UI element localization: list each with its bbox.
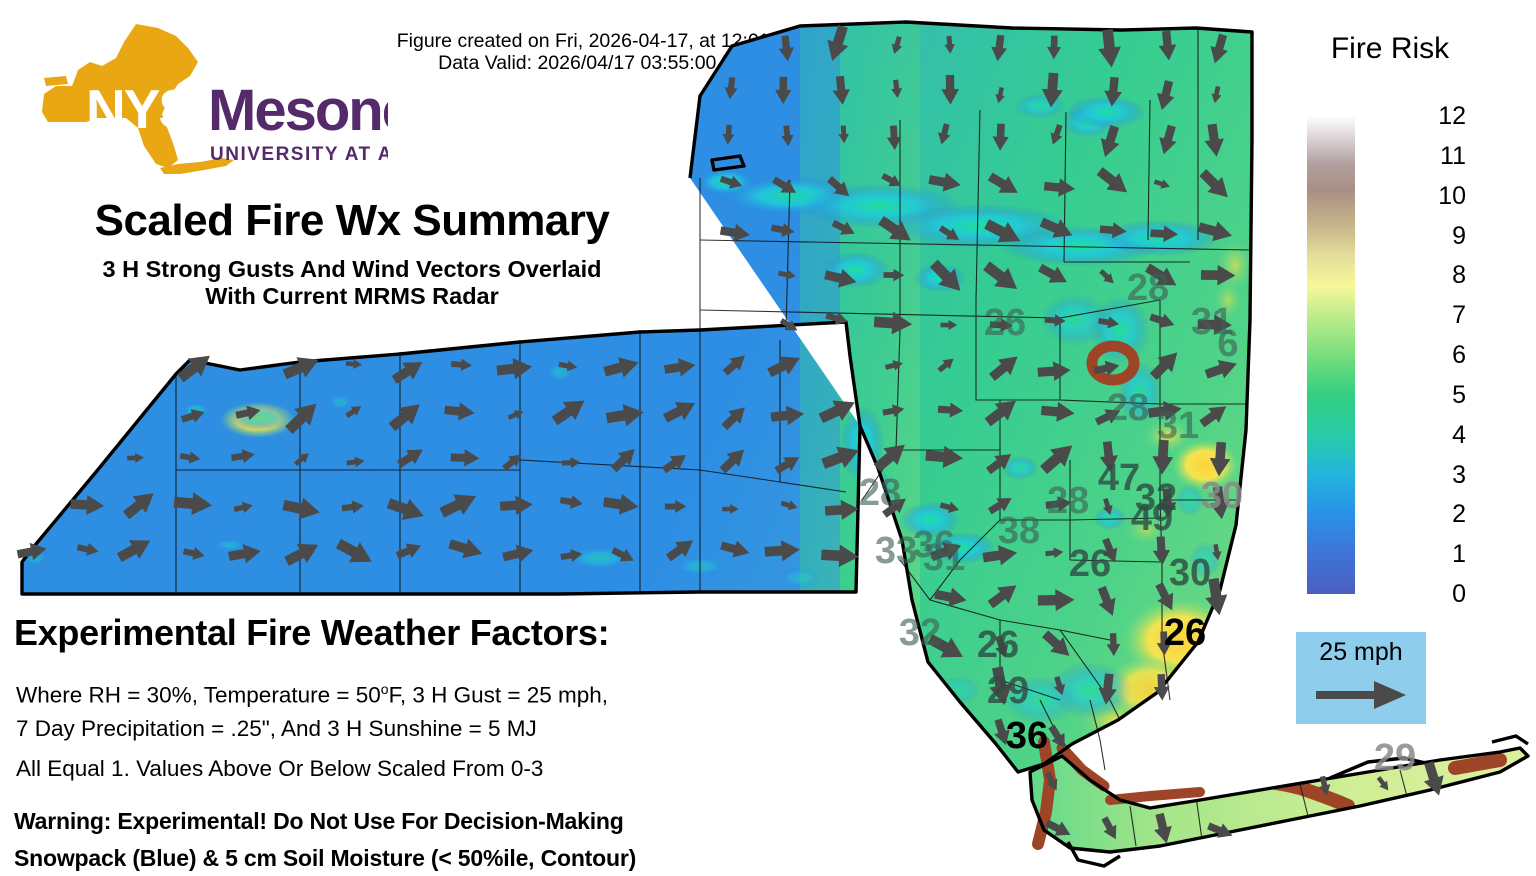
colorbar-tick-9: 9 [1420, 224, 1466, 249]
wind-legend-arrow-icon [1314, 678, 1408, 712]
gust-label: 36 [1006, 715, 1048, 757]
factor-line-1: Where RH = 30%, Temperature = 50oF, 3 H … [16, 676, 608, 709]
gust-label: 28 [859, 472, 901, 514]
gust-label: 29 [987, 670, 1029, 712]
gust-label: 26 [977, 624, 1019, 666]
colorbar-tick-8: 8 [1420, 263, 1466, 288]
colorbar-tick-5: 5 [1420, 383, 1466, 408]
degree-sup: o [381, 681, 389, 697]
gust-label: 26 [984, 302, 1026, 344]
gust-label: 31 [923, 537, 965, 579]
warning-line-1: Warning: Experimental! Do Not Use For De… [14, 808, 624, 835]
fire-risk-colorbar [1307, 116, 1355, 594]
colorbar-title: Fire Risk [1300, 32, 1480, 66]
gust-label: 38 [998, 510, 1040, 552]
colorbar-tick-7: 7 [1420, 303, 1466, 328]
warning-line-2: Snowpack (Blue) & 5 cm Soil Moisture (< … [14, 845, 636, 872]
colorbar-tick-0: 0 [1420, 582, 1466, 607]
gust-label: 28 [1107, 387, 1149, 429]
gust-label: 49 [1131, 497, 1173, 539]
factor-1a: Where RH = 30%, Temperature = 50 [16, 683, 381, 708]
fire-risk-map: 2826316283147282832303849363331263032262… [0, 0, 1536, 876]
gust-label: 26 [1069, 543, 1111, 585]
colorbar-tick-labels: 1211109876543210 [1420, 104, 1466, 604]
colorbar-tick-1: 1 [1420, 542, 1466, 567]
factor-line-2: 7 Day Precipitation = .25", And 3 H Suns… [16, 716, 537, 742]
wind-scale-legend: 25 mph [1296, 632, 1426, 724]
factors-heading: Experimental Fire Weather Factors: [14, 612, 609, 654]
gust-label: 47 [1098, 457, 1140, 499]
gust-label: 26 [1164, 612, 1206, 654]
colorbar-tick-3: 3 [1420, 463, 1466, 488]
risk-raster-layer [0, 0, 1536, 876]
gust-label: 28 [1047, 480, 1089, 522]
gust-label: 31 [1157, 405, 1199, 447]
gust-label: 6 [1217, 323, 1238, 365]
wind-legend-label: 25 mph [1296, 638, 1426, 667]
colorbar-tick-12: 12 [1420, 104, 1466, 129]
colorbar-tick-4: 4 [1420, 423, 1466, 448]
colorbar-tick-6: 6 [1420, 343, 1466, 368]
colorbar-tick-10: 10 [1420, 184, 1466, 209]
gust-label: 30 [1169, 552, 1211, 594]
gust-label: 32 [899, 612, 941, 654]
gust-label: 29 [1374, 737, 1416, 779]
gust-label: 28 [1127, 267, 1169, 309]
factor-line-3: All Equal 1. Values Above Or Below Scale… [16, 756, 543, 782]
factor-1b: F, 3 H Gust = 25 mph, [389, 683, 608, 708]
colorbar-tick-11: 11 [1420, 144, 1466, 169]
colorbar-tick-2: 2 [1420, 502, 1466, 527]
gust-label: 30 [1201, 475, 1243, 517]
gust-label: 33 [875, 530, 917, 572]
